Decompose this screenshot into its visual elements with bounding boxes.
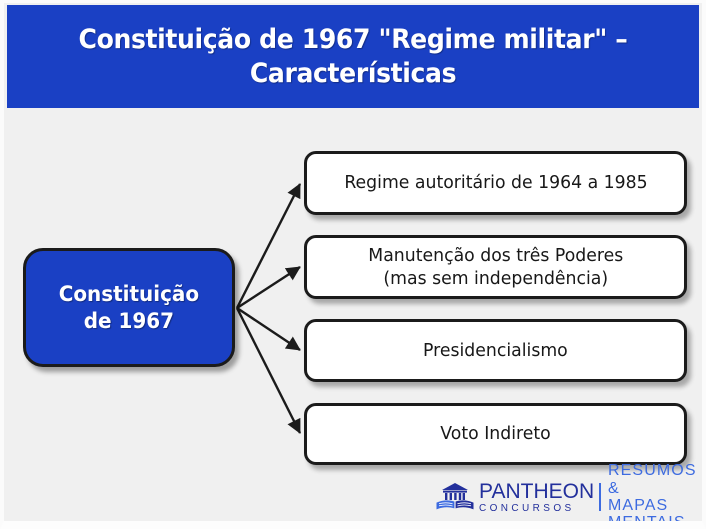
root-node-label: Constituição de 1967 (59, 281, 199, 335)
branch-node-label: Manutenção dos três Poderes (mas sem ind… (358, 244, 632, 291)
branch-node-label-line1: Regime autoritário de 1964 a 1985 (344, 172, 647, 193)
pantheon-temple-book-icon (435, 482, 475, 512)
root-node-label-line2: de 1967 (84, 309, 174, 333)
slide-canvas: Constituição de 1967 "Regime militar" – … (0, 0, 706, 529)
logo-tagline-line1: RESUMOS & (608, 462, 698, 497)
branch-node-label-line1: Presidencialismo (423, 340, 568, 361)
logo-divider (599, 483, 601, 511)
connector-line-3 (237, 308, 300, 433)
logo-brand-name: PANTHEON (479, 481, 594, 502)
connector-line-0 (237, 184, 300, 308)
branch-node-label-line2: (mas sem independência) (383, 268, 608, 289)
logo-tagline-line2: MAPAS MENTAIS (608, 497, 698, 529)
branch-node-label: Voto Indireto (431, 422, 561, 445)
footer-logo: PANTHEON CONCURSOS RESUMOS & MAPAS MENTA… (435, 480, 693, 514)
logo-brand-subtitle: CONCURSOS (479, 504, 575, 514)
root-node-label-line1: Constituição (59, 282, 199, 306)
branch-node-voto-indireto[interactable]: Voto Indireto (304, 403, 687, 465)
branch-node-manutencao-tres-poderes[interactable]: Manutenção dos três Poderes (mas sem ind… (304, 235, 687, 299)
slide-header-band: Constituição de 1967 "Regime militar" – … (7, 5, 699, 108)
connector-line-2 (237, 308, 300, 350)
branch-node-label-line1: Voto Indireto (440, 423, 550, 444)
root-node-constituicao-1967[interactable]: Constituição de 1967 (23, 248, 235, 367)
page-title: Constituição de 1967 "Regime militar" – … (31, 23, 675, 91)
branch-node-label: Presidencialismo (414, 339, 578, 362)
logo-text: PANTHEON CONCURSOS RESUMOS & MAPAS MENTA… (479, 462, 698, 529)
logo-brand-block: PANTHEON CONCURSOS (479, 481, 594, 514)
logo-tagline-block: RESUMOS & MAPAS MENTAIS (608, 462, 698, 529)
branch-node-label-line1: Manutenção dos três Poderes (368, 245, 623, 266)
branch-node-regime-autoritario[interactable]: Regime autoritário de 1964 a 1985 (304, 151, 687, 215)
branch-node-label: Regime autoritário de 1964 a 1985 (334, 171, 657, 194)
connector-line-1 (237, 267, 300, 308)
branch-node-presidencialismo[interactable]: Presidencialismo (304, 319, 687, 382)
